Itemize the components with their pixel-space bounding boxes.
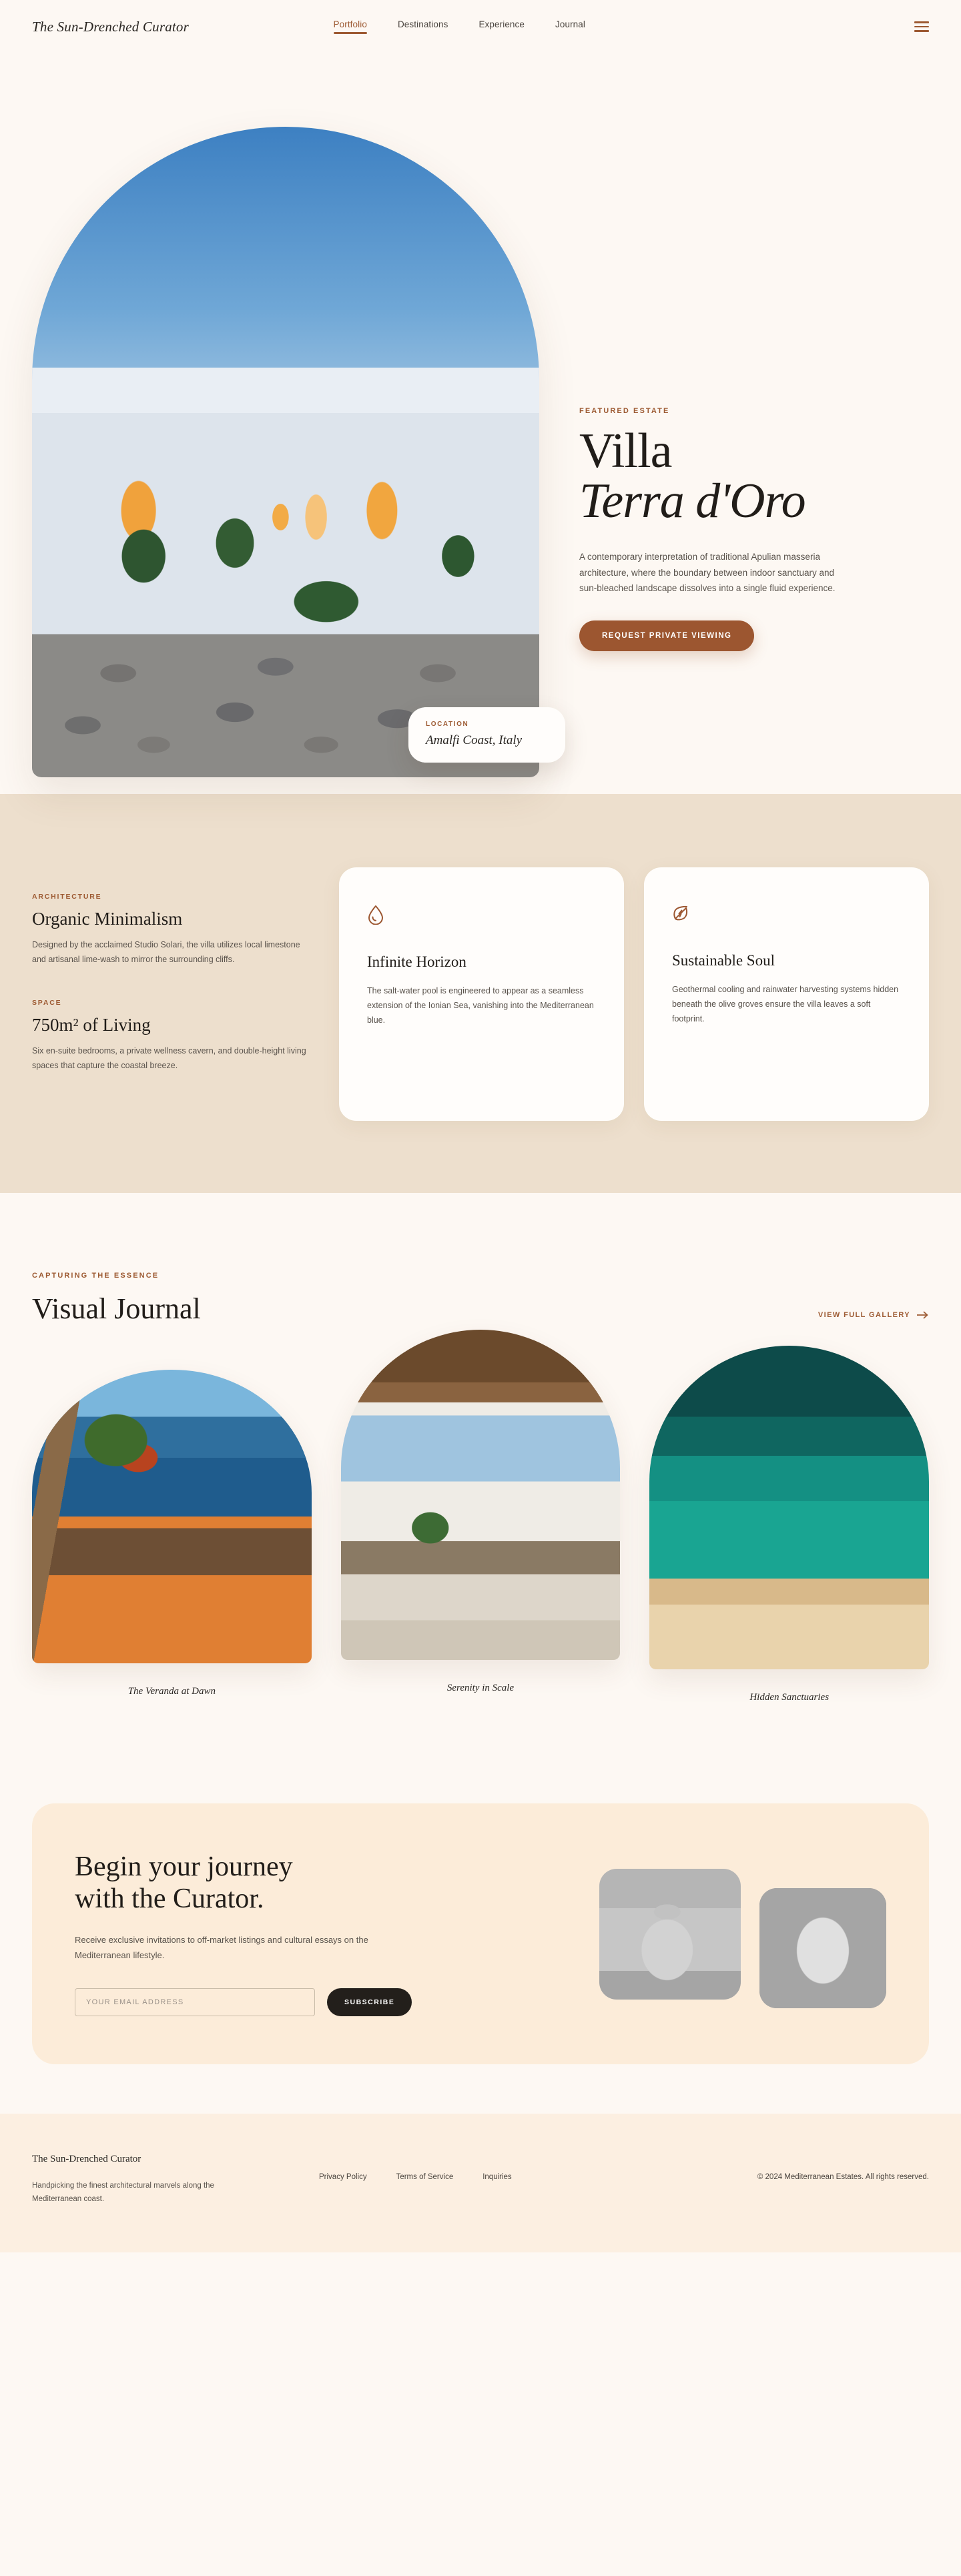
feature-card-heading: Infinite Horizon — [367, 953, 596, 971]
gallery-item[interactable]: Serenity in Scale — [341, 1330, 621, 1694]
feature-card-infinite-horizon[interactable]: Infinite Horizon The salt-water pool is … — [339, 867, 624, 1121]
hero-eyebrow: FEATURED ESTATE — [579, 407, 913, 415]
nav-item-portfolio[interactable]: Portfolio — [334, 19, 367, 34]
hero-title-line1: Villa — [579, 424, 672, 478]
cta-wrapper: Begin your journey with the Curator. Rec… — [0, 1763, 961, 2114]
footer-link-terms[interactable]: Terms of Service — [396, 2173, 454, 2181]
gallery-arch-image — [341, 1330, 621, 1660]
feature-card-body: The salt-water pool is engineered to app… — [367, 984, 596, 1028]
hero-title-line2: Terra d'Oro — [579, 477, 913, 526]
gallery-grid: The Veranda at Dawn Serenity in Scale Hi… — [32, 1370, 929, 1703]
location-value: Amalfi Coast, Italy — [426, 733, 548, 748]
feature-text-column: ARCHITECTURE Organic Minimalism Designed… — [32, 861, 319, 1121]
feature-cards: Infinite Horizon The salt-water pool is … — [339, 861, 929, 1121]
feature-block-space: SPACE 750m² of Living Six en-suite bedro… — [32, 999, 319, 1073]
footer-copyright: © 2024 Mediterranean Estates. All rights… — [757, 2154, 929, 2181]
footer-brand-block: The Sun-Drenched Curator Handpicking the… — [32, 2154, 319, 2206]
feature-card-sustainable-soul[interactable]: Sustainable Soul Geothermal cooling and … — [644, 867, 929, 1121]
newsletter-copy: Begin your journey with the Curator. Rec… — [75, 1851, 462, 2016]
porthole-photo — [759, 1888, 886, 2008]
nav-item-experience[interactable]: Experience — [478, 19, 525, 34]
feature-kicker: ARCHITECTURE — [32, 893, 319, 901]
feature-card-heading: Sustainable Soul — [672, 952, 901, 969]
location-badge: LOCATION Amalfi Coast, Italy — [408, 707, 565, 763]
thumb-pottery — [599, 1869, 741, 2000]
footer-link-inquiries[interactable]: Inquiries — [483, 2173, 511, 2181]
gallery-eyebrow: CAPTURING THE ESSENCE — [32, 1272, 929, 1280]
subscribe-button[interactable]: SUBSCRIBE — [327, 1988, 412, 2016]
gallery-title: Visual Journal — [32, 1292, 929, 1326]
hamburger-icon[interactable] — [914, 21, 929, 32]
veranda-photo — [32, 1370, 312, 1663]
brand-wordmark[interactable]: The Sun-Drenched Curator — [32, 19, 189, 35]
leaf-bolt-icon — [672, 905, 901, 927]
feature-body: Designed by the acclaimed Studio Solari,… — [32, 938, 312, 967]
gallery-caption: The Veranda at Dawn — [32, 1686, 312, 1697]
newsletter-heading: Begin your journey with the Curator. — [75, 1851, 462, 1915]
feature-heading: Organic Minimalism — [32, 909, 319, 929]
feature-heading: 750m² of Living — [32, 1015, 319, 1035]
thumb-porthole — [759, 1888, 886, 2008]
villa-photo — [32, 127, 539, 777]
site-header: The Sun-Drenched Curator Portfolio Desti… — [0, 0, 961, 53]
email-field[interactable] — [75, 1988, 315, 2016]
footer-brand: The Sun-Drenched Curator — [32, 2154, 319, 2165]
newsletter-form: SUBSCRIBE — [75, 1988, 462, 2016]
gallery-arch-image — [32, 1370, 312, 1663]
feature-card-body: Geothermal cooling and rainwater harvest… — [672, 983, 901, 1027]
features-section: ARCHITECTURE Organic Minimalism Designed… — [0, 794, 961, 1193]
arrow-right-icon — [917, 1311, 929, 1319]
newsletter-heading-line2: with the Curator. — [75, 1883, 264, 1914]
location-label: LOCATION — [426, 721, 548, 728]
gallery-caption: Serenity in Scale — [341, 1683, 621, 1694]
site-footer: The Sun-Drenched Curator Handpicking the… — [0, 2114, 961, 2252]
hero-section: LOCATION Amalfi Coast, Italy FEATURED ES… — [0, 53, 961, 794]
gallery-caption: Hidden Sanctuaries — [649, 1692, 929, 1703]
gallery-item[interactable]: The Veranda at Dawn — [32, 1370, 312, 1697]
view-full-gallery-link[interactable]: VIEW FULL GALLERY — [818, 1311, 929, 1319]
footer-links: Privacy Policy Terms of Service Inquirie… — [319, 2154, 512, 2181]
nav-item-destinations[interactable]: Destinations — [398, 19, 448, 34]
newsletter-thumbs — [489, 1860, 886, 2008]
nav-item-journal[interactable]: Journal — [555, 19, 585, 34]
hero-arch-image — [32, 127, 539, 777]
gallery-item[interactable]: Hidden Sanctuaries — [649, 1346, 929, 1703]
gallery-arch-image — [649, 1346, 929, 1669]
footer-description: Handpicking the finest architectural mar… — [32, 2180, 232, 2206]
newsletter-heading-line1: Begin your journey — [75, 1851, 293, 1882]
hero-description: A contemporary interpretation of traditi… — [579, 549, 840, 596]
feature-block-architecture: ARCHITECTURE Organic Minimalism Designed… — [32, 893, 319, 967]
newsletter-panel: Begin your journey with the Curator. Rec… — [32, 1803, 929, 2064]
feature-body: Six en-suite bedrooms, a private wellnes… — [32, 1044, 312, 1073]
gallery-header: CAPTURING THE ESSENCE Visual Journal VIE… — [32, 1272, 929, 1326]
interior-photo — [341, 1330, 621, 1660]
footer-link-privacy[interactable]: Privacy Policy — [319, 2173, 367, 2181]
page-title: Villa Terra d'Oro — [579, 427, 913, 525]
landing-page: The Sun-Drenched Curator Portfolio Desti… — [0, 0, 961, 2252]
primary-nav: Portfolio Destinations Experience Journa… — [334, 19, 585, 34]
water-droplet-icon — [367, 905, 596, 928]
hero-copy: FEATURED ESTATE Villa Terra d'Oro A cont… — [579, 407, 913, 651]
newsletter-body: Receive exclusive invitations to off-mar… — [75, 1933, 422, 1964]
cove-photo — [649, 1346, 929, 1669]
view-full-gallery-label: VIEW FULL GALLERY — [818, 1311, 910, 1319]
pottery-photo — [599, 1869, 741, 2000]
feature-kicker: SPACE — [32, 999, 319, 1007]
gallery-section: CAPTURING THE ESSENCE Visual Journal VIE… — [0, 1193, 961, 1763]
request-viewing-button[interactable]: REQUEST PRIVATE VIEWING — [579, 620, 754, 651]
